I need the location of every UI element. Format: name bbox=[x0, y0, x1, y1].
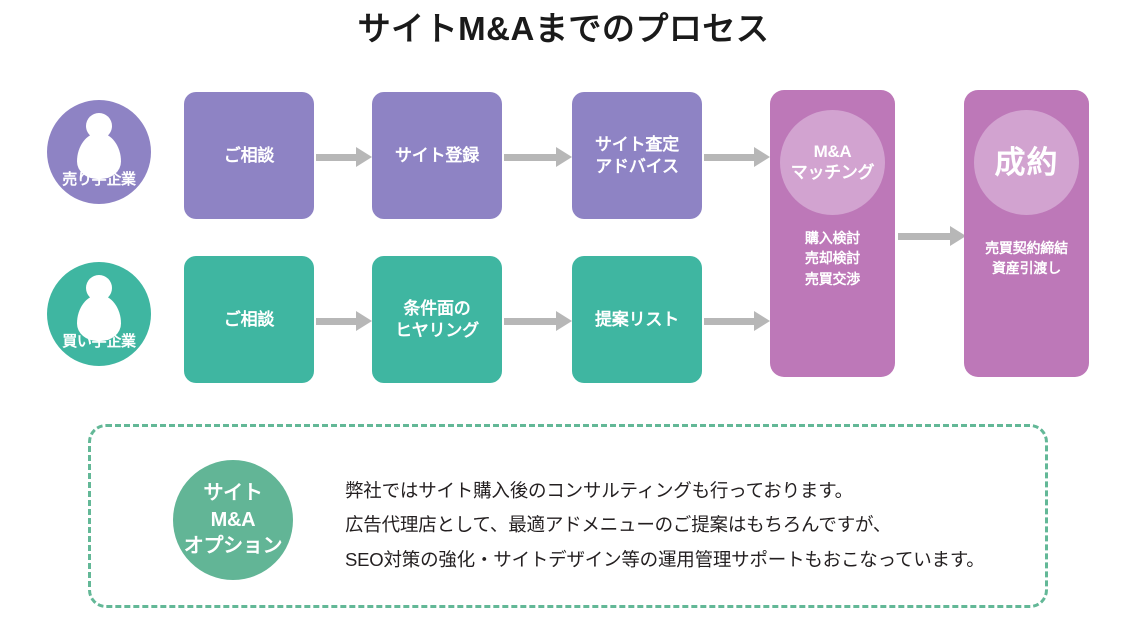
step-label: 条件面の ヒヤリング bbox=[395, 298, 479, 342]
panel-closing-circle: 成約 bbox=[974, 110, 1079, 215]
option-description-line: SEO対策の強化・サイトデザイン等の運用管理サポートもおこなっています。 bbox=[345, 543, 1045, 577]
role-label-seller: 売り手企業 bbox=[47, 168, 151, 189]
arrow-buyer-2-3 bbox=[504, 316, 572, 324]
process-diagram: サイトM&Aまでのプロセス 売り手企業 買い手企業 ご相談 サイト登録 サイト査… bbox=[0, 0, 1127, 620]
arrow-buyer-3-matching bbox=[704, 316, 770, 324]
option-description: 弊社ではサイト購入後のコンサルティングも行っております。 広告代理店として、最適… bbox=[345, 474, 1045, 577]
panel-matching-circle: M&A マッチング bbox=[780, 110, 885, 215]
step-box-seller-2[interactable]: サイト登録 bbox=[372, 92, 502, 219]
page-title: サイトM&Aまでのプロセス bbox=[0, 2, 1127, 50]
role-label-buyer: 買い手企業 bbox=[47, 330, 151, 351]
arrow-buyer-1-2 bbox=[316, 316, 372, 324]
role-circle-buyer: 買い手企業 bbox=[47, 262, 151, 366]
step-box-seller-3[interactable]: サイト査定 アドバイス bbox=[572, 92, 702, 219]
step-box-buyer-2[interactable]: 条件面の ヒヤリング bbox=[372, 256, 502, 383]
step-box-buyer-3[interactable]: 提案リスト bbox=[572, 256, 702, 383]
arrow-seller-1-2 bbox=[316, 152, 372, 160]
step-label: 提案リスト bbox=[595, 309, 679, 331]
step-label: ご相談 bbox=[224, 145, 274, 167]
step-label: ご相談 bbox=[224, 309, 274, 331]
option-description-line: 弊社ではサイト購入後のコンサルティングも行っております。 bbox=[345, 474, 1045, 508]
step-box-seller-1[interactable]: ご相談 bbox=[184, 92, 314, 219]
step-box-buyer-1[interactable]: ご相談 bbox=[184, 256, 314, 383]
arrow-seller-3-matching bbox=[704, 152, 770, 160]
role-circle-seller: 売り手企業 bbox=[47, 100, 151, 204]
arrow-matching-closing bbox=[898, 231, 966, 239]
panel-closing-sublist: 売買契約締結 資産引渡し bbox=[964, 238, 1089, 279]
option-description-line: 広告代理店として、最適アドメニューのご提案はもちろんですが、 bbox=[345, 508, 1045, 542]
arrow-seller-2-3 bbox=[504, 152, 572, 160]
option-circle[interactable]: サイト M&A オプション bbox=[173, 460, 293, 580]
panel-matching-sublist: 購入検討 売却検討 売買交渉 bbox=[770, 228, 895, 289]
panel-closing[interactable]: 成約 売買契約締結 資産引渡し bbox=[964, 90, 1089, 377]
panel-matching[interactable]: M&A マッチング 購入検討 売却検討 売買交渉 bbox=[770, 90, 895, 377]
step-label: サイト査定 アドバイス bbox=[595, 134, 679, 178]
step-label: サイト登録 bbox=[395, 145, 479, 167]
